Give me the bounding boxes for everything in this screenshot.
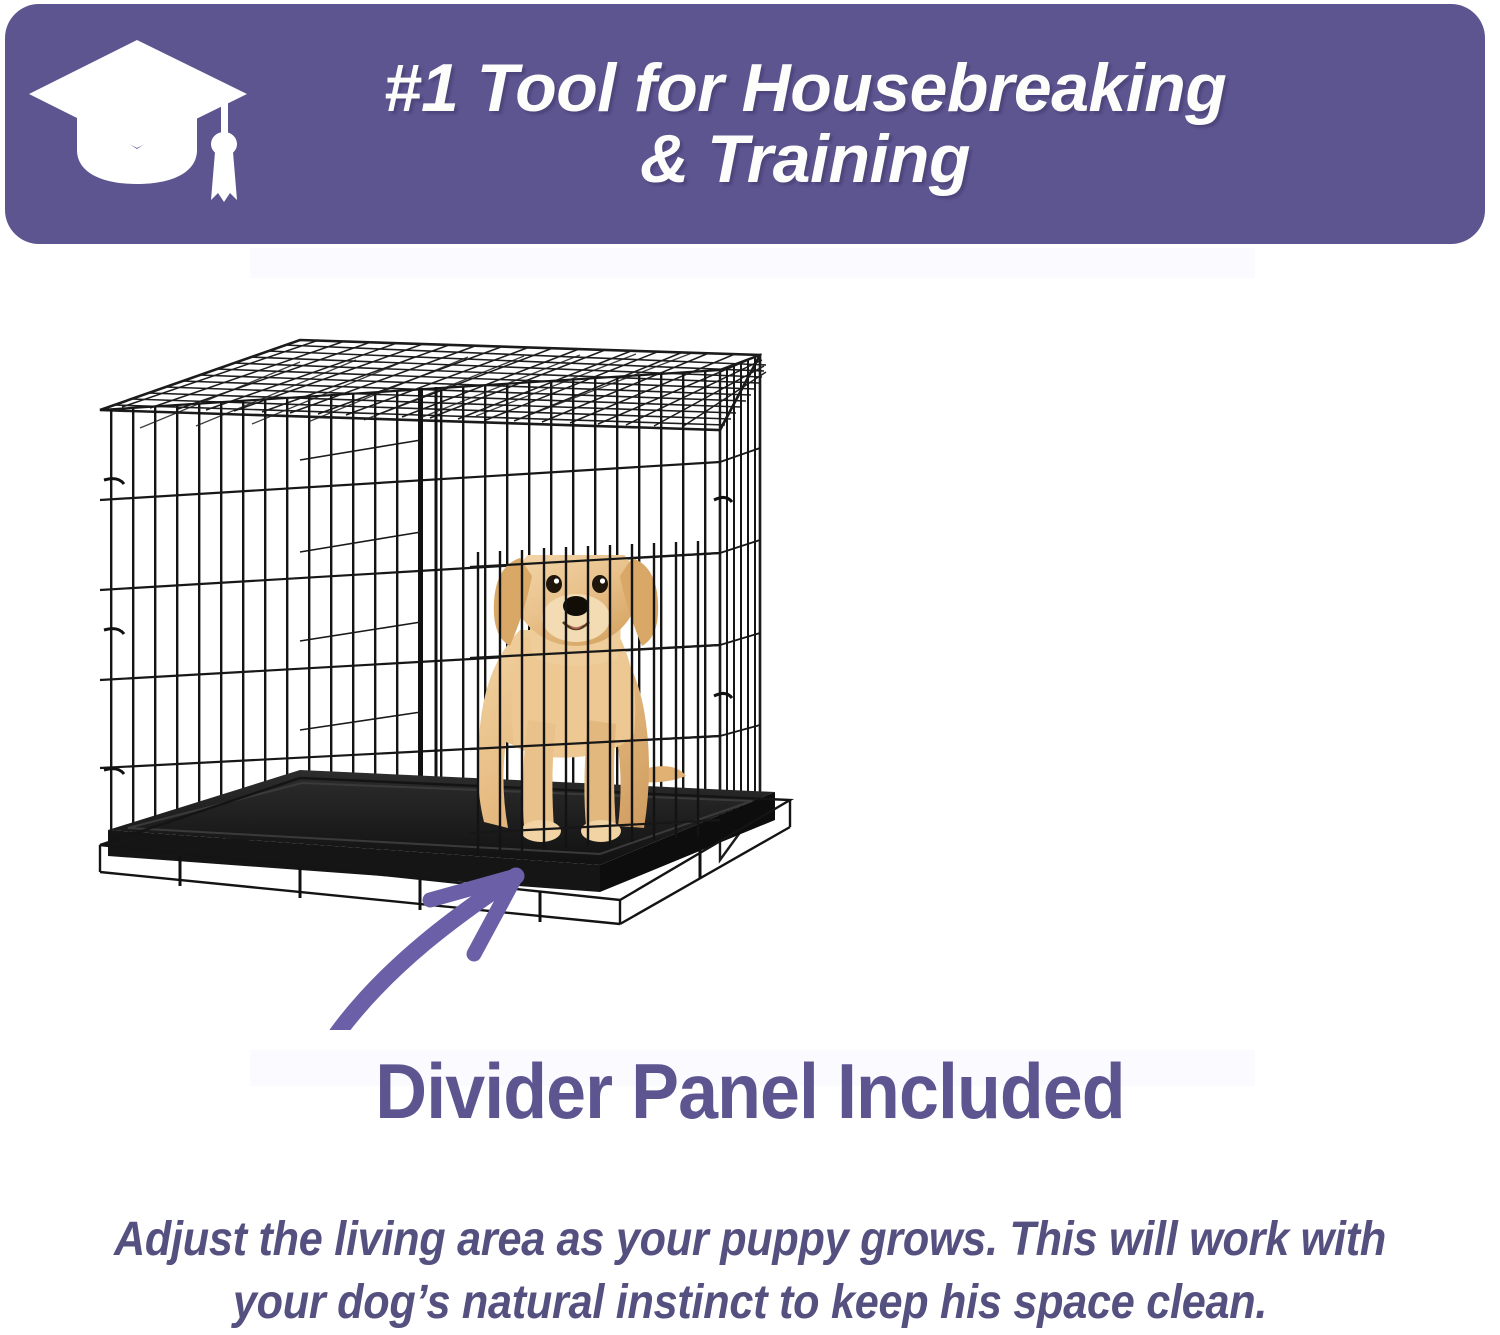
dog-crate-illustration	[100, 340, 790, 1030]
product-photo	[0, 300, 1500, 1030]
graduation-cap-icon	[5, 4, 275, 244]
header-banner: #1 Tool for Housebreaking & Training	[5, 4, 1485, 244]
upper-tint-band	[250, 248, 1255, 278]
divider-panel-arrow	[295, 868, 524, 1030]
caption-text: Adjust the living area as your puppy gro…	[111, 1208, 1389, 1335]
page-title: Divider Panel Included	[60, 1052, 1440, 1130]
header-title: #1 Tool for Housebreaking & Training	[275, 53, 1485, 194]
